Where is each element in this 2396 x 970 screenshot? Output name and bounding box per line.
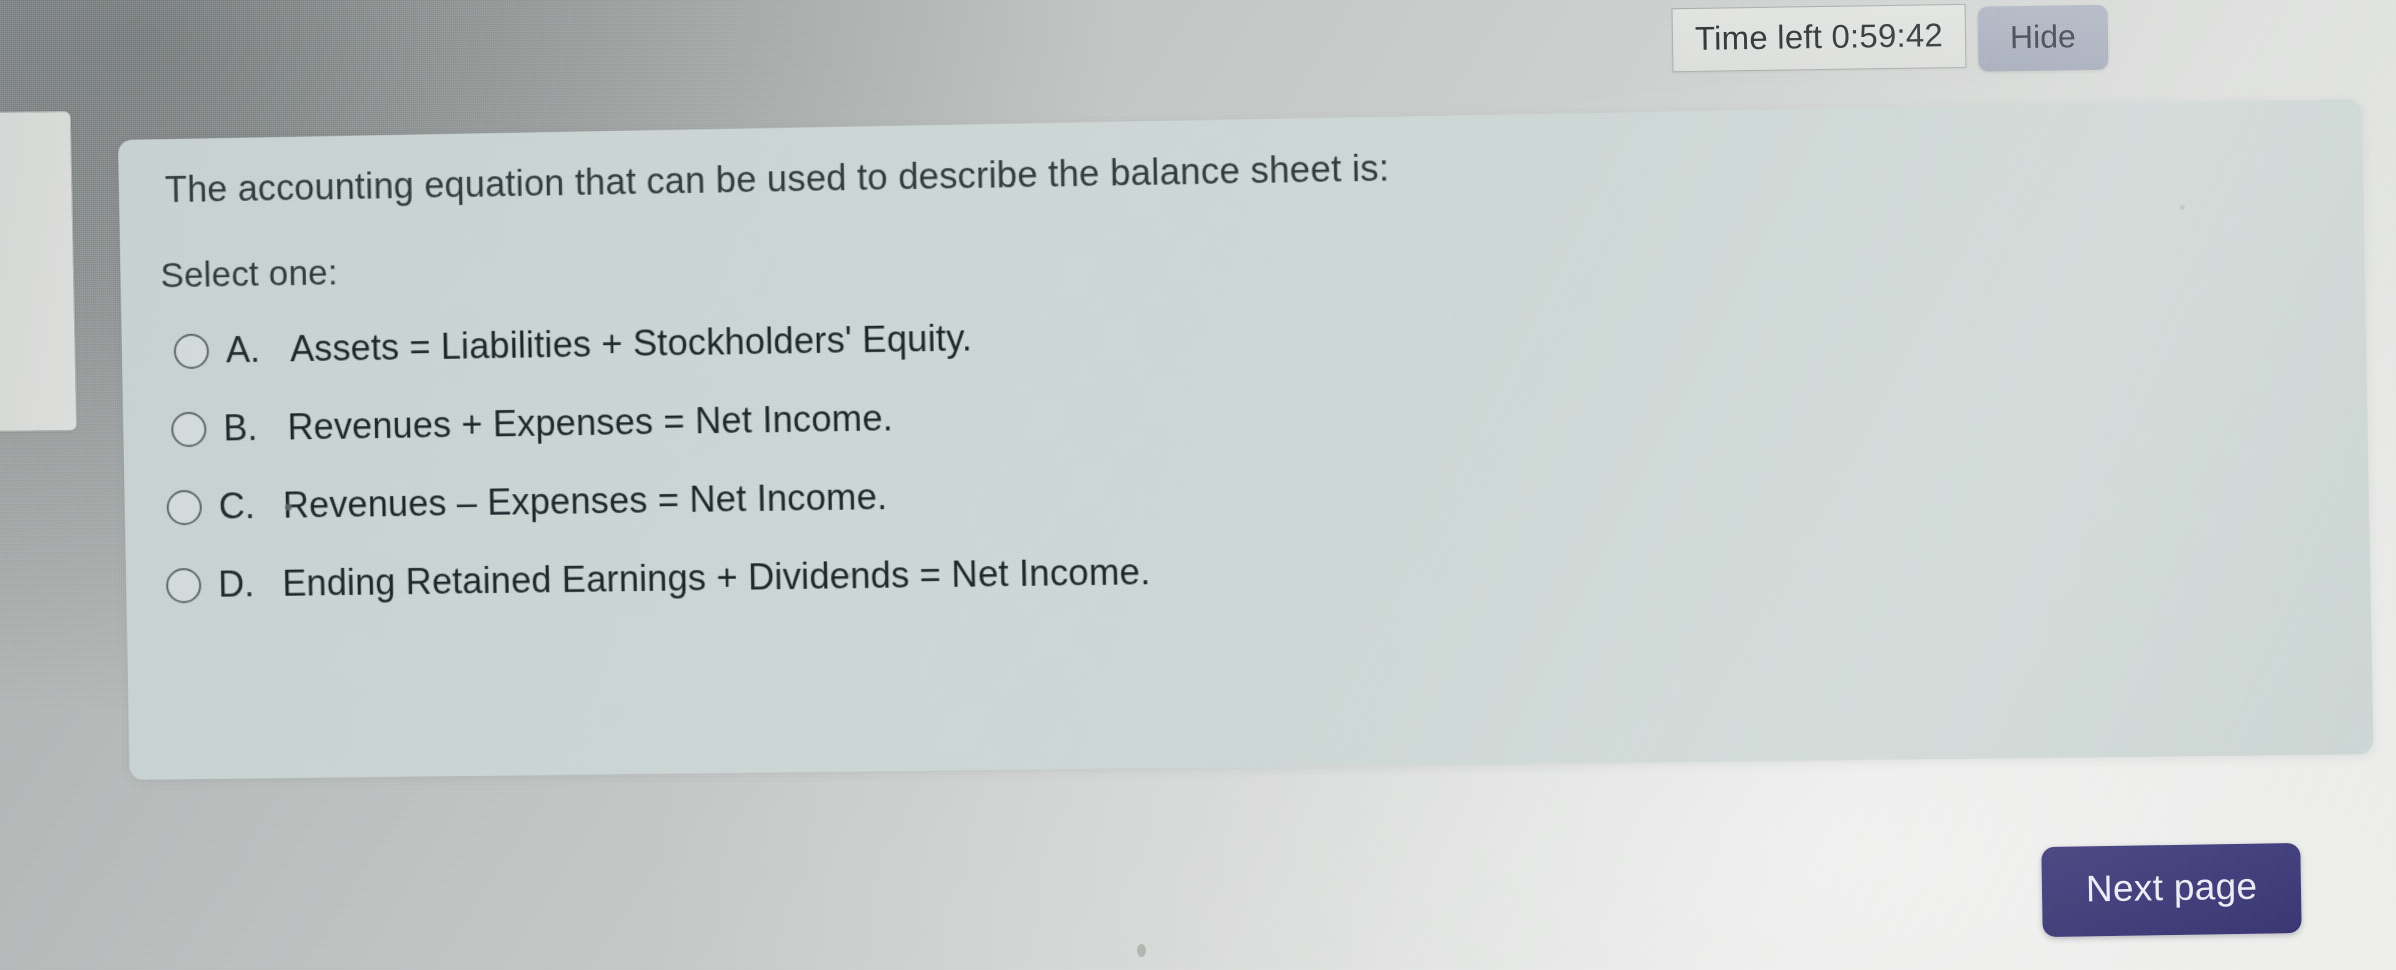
option-letter-d: D. <box>218 563 283 606</box>
side-panel-clipped[interactable] <box>0 111 77 433</box>
radio-button-a[interactable] <box>174 333 210 369</box>
dust-speck-artifact <box>285 504 292 511</box>
option-letter-b: B. <box>223 406 288 449</box>
option-text-c: Revenues – Expenses = Net Income. <box>283 476 888 527</box>
radio-button-c[interactable] <box>166 489 202 525</box>
answer-option-a[interactable]: A. Assets = Liabilities + Stockholders' … <box>173 290 2207 379</box>
option-text-b: Revenues + Expenses = Net Income. <box>287 397 893 448</box>
question-prompt: The accounting equation that can be used… <box>165 147 1390 211</box>
quiz-page: f Time left 0:59:42 Hide The accounting … <box>0 0 2396 970</box>
select-one-label: Select one: <box>160 253 338 296</box>
option-text-a: Assets = Liabilities + Stockholders' Equ… <box>290 317 973 370</box>
radio-button-d[interactable] <box>166 567 202 602</box>
time-left-display: Time left 0:59:42 <box>1672 4 1967 72</box>
question-card-content: The accounting equation that can be used… <box>118 99 2374 780</box>
screen-photo: f Time left 0:59:42 Hide The accounting … <box>0 0 2396 970</box>
timer-row: Time left 0:59:42 Hide <box>1672 2 2109 76</box>
option-text-d: Ending Retained Earnings + Dividends = N… <box>282 551 1151 605</box>
answer-option-b[interactable]: B. Revenues + Expenses = Net Income. <box>171 370 2209 458</box>
next-page-button[interactable]: Next page <box>2041 843 2302 937</box>
radio-button-b[interactable] <box>171 411 207 447</box>
hide-timer-button[interactable]: Hide <box>1978 5 2109 71</box>
dust-speck <box>1137 944 1146 957</box>
answer-option-c[interactable]: C. Revenues – Expenses = Net Income. <box>166 449 2210 535</box>
option-letter-a: A. <box>226 328 291 371</box>
answer-option-d[interactable]: D. Ending Retained Earnings + Dividends … <box>166 529 2212 613</box>
answer-options-list: A. Assets = Liabilities + Stockholders' … <box>161 290 2211 636</box>
option-letter-c: C. <box>218 485 283 528</box>
